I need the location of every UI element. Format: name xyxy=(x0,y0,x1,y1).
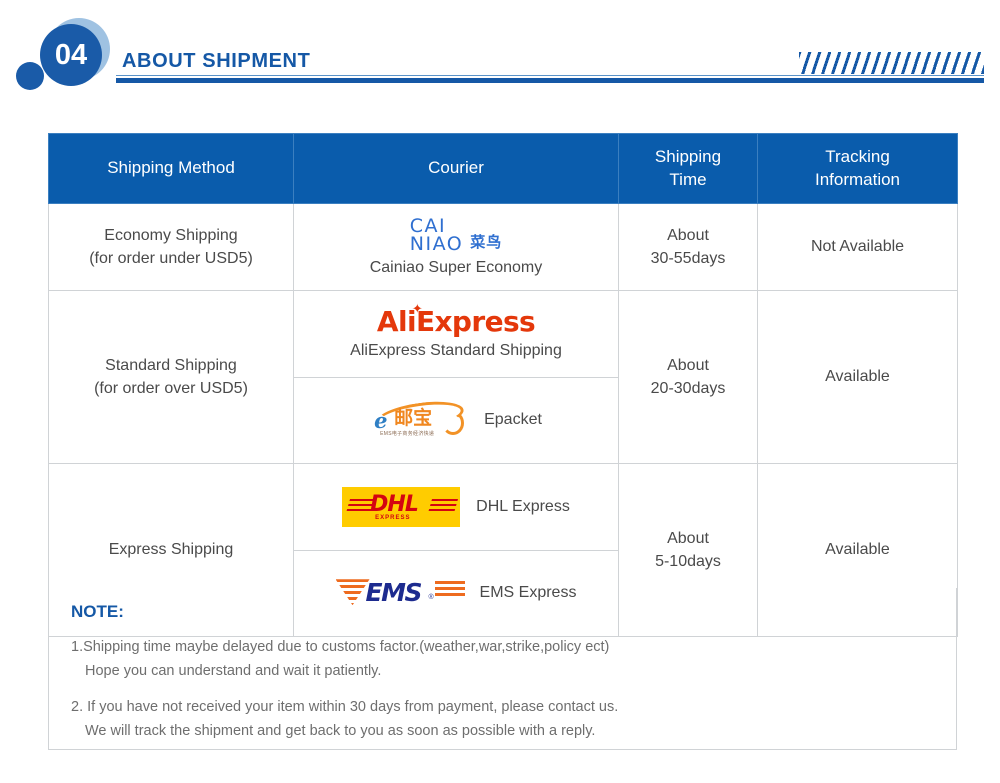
column-header-tracking-line2: Information xyxy=(758,169,957,192)
column-header-shipping-time-line1: Shipping xyxy=(619,146,757,169)
section-number-text: 04 xyxy=(55,41,87,70)
shipping-table-wrapper: Shipping Method Courier Shipping Time Tr… xyxy=(48,133,957,637)
courier-stack-cainiao: CAI NIAO 菜鸟 Cainiao Super Economy xyxy=(294,217,618,277)
table-header-row: Shipping Method Courier Shipping Time Tr… xyxy=(49,134,958,204)
page-title: ABOUT SHIPMENT xyxy=(122,50,310,73)
time-line1: About xyxy=(619,354,757,377)
cell-courier-economy: CAI NIAO 菜鸟 Cainiao Super Economy xyxy=(294,204,619,291)
cainiao-logo-chinese: 菜鸟 xyxy=(470,231,502,253)
courier-line-dhl: DHL EXPRESS DHL Express xyxy=(294,487,618,527)
note-item-1: 1.Shipping time maybe delayed due to cus… xyxy=(71,636,934,684)
epacket-logo-icon: e 邮宝 EMS电子商务经济快递 xyxy=(370,403,468,437)
aliexpress-star-icon: ✦ xyxy=(412,303,422,316)
column-header-courier: Courier xyxy=(294,134,619,204)
column-header-shipping-time-line2: Time xyxy=(619,169,757,192)
time-line1: About xyxy=(619,527,757,550)
cainiao-logo-icon: CAI NIAO 菜鸟 xyxy=(410,217,502,253)
cell-tracking-standard: Available xyxy=(758,291,958,464)
note-section: NOTE: 1.Shipping time maybe delayed due … xyxy=(48,588,957,750)
courier-label-cainiao: Cainiao Super Economy xyxy=(370,259,543,277)
epacket-logo-latin: e xyxy=(374,410,387,431)
column-header-tracking-information: Tracking Information xyxy=(758,134,958,204)
shipping-table: Shipping Method Courier Shipping Time Tr… xyxy=(48,133,958,637)
column-header-shipping-time: Shipping Time xyxy=(619,134,758,204)
method-line2: (for order under USD5) xyxy=(53,247,289,270)
header-accent-dot xyxy=(16,62,44,90)
note-title: NOTE: xyxy=(71,602,934,622)
courier-item-aliexpress: ✦ AliExpress AliExpress Standard Shippin… xyxy=(294,291,618,377)
dhl-logo-sub: EXPRESS xyxy=(375,515,410,521)
courier-item-dhl: DHL EXPRESS DHL Express xyxy=(294,464,618,550)
dhl-logo-text: DHL xyxy=(370,494,418,516)
courier-item-cainiao: CAI NIAO 菜鸟 Cainiao Super Economy xyxy=(294,204,618,290)
cainiao-logo-row2: NIAO xyxy=(410,235,463,253)
time-line2: 5-10days xyxy=(619,550,757,573)
section-header: 04 ABOUT SHIPMENT xyxy=(0,0,1000,112)
table-row: Economy Shipping (for order under USD5) … xyxy=(49,204,958,291)
courier-label-dhl: DHL Express xyxy=(476,498,570,516)
courier-sublist: CAI NIAO 菜鸟 Cainiao Super Economy xyxy=(294,204,618,290)
header-rule xyxy=(116,78,984,83)
epacket-logo-chinese: 邮宝 xyxy=(394,409,432,428)
note-item-1-line1: 1.Shipping time maybe delayed due to cus… xyxy=(71,639,609,655)
method-line1: Express Shipping xyxy=(53,538,289,561)
courier-sublist: ✦ AliExpress AliExpress Standard Shippin… xyxy=(294,291,618,463)
courier-item-epacket: e 邮宝 EMS电子商务经济快递 Epacket xyxy=(294,377,618,463)
note-item-2: 2. If you have not received your item wi… xyxy=(71,696,934,744)
time-line2: 30-55days xyxy=(619,247,757,270)
cell-shipping-method-standard: Standard Shipping (for order over USD5) xyxy=(49,291,294,464)
courier-label-epacket: Epacket xyxy=(484,411,542,429)
diagonal-slashes-icon xyxy=(799,52,984,74)
table-row: Standard Shipping (for order over USD5) … xyxy=(49,291,958,464)
cell-shipping-time-economy: About 30-55days xyxy=(619,204,758,291)
note-item-2-line1: 2. If you have not received your item wi… xyxy=(71,699,618,715)
courier-stack-aliexpress: ✦ AliExpress AliExpress Standard Shippin… xyxy=(294,308,618,360)
section-number-badge: 04 xyxy=(40,24,102,86)
note-item-1-line2: Hope you can understand and wait it pati… xyxy=(71,660,934,684)
method-line2: (for order over USD5) xyxy=(53,377,289,400)
method-line1: Economy Shipping xyxy=(53,224,289,247)
courier-label-aliexpress: AliExpress Standard Shipping xyxy=(350,342,562,360)
note-item-2-line2: We will track the shipment and get back … xyxy=(71,720,934,744)
time-line2: 20-30days xyxy=(619,377,757,400)
header-rule-thin xyxy=(116,75,984,76)
time-line1: About xyxy=(619,224,757,247)
epacket-logo-tagline: EMS电子商务经济快递 xyxy=(380,430,434,437)
dhl-logo-icon: DHL EXPRESS xyxy=(342,487,460,527)
column-header-tracking-line1: Tracking xyxy=(758,146,957,169)
courier-line-epacket: e 邮宝 EMS电子商务经济快递 Epacket xyxy=(294,403,618,437)
method-line1: Standard Shipping xyxy=(53,354,289,377)
column-header-shipping-method: Shipping Method xyxy=(49,134,294,204)
cell-shipping-method-economy: Economy Shipping (for order under USD5) xyxy=(49,204,294,291)
cell-shipping-time-standard: About 20-30days xyxy=(619,291,758,464)
aliexpress-logo-text: AliExpress xyxy=(377,305,535,338)
cell-courier-standard: ✦ AliExpress AliExpress Standard Shippin… xyxy=(294,291,619,464)
aliexpress-logo-icon: ✦ AliExpress xyxy=(377,308,535,336)
cell-tracking-economy: Not Available xyxy=(758,204,958,291)
